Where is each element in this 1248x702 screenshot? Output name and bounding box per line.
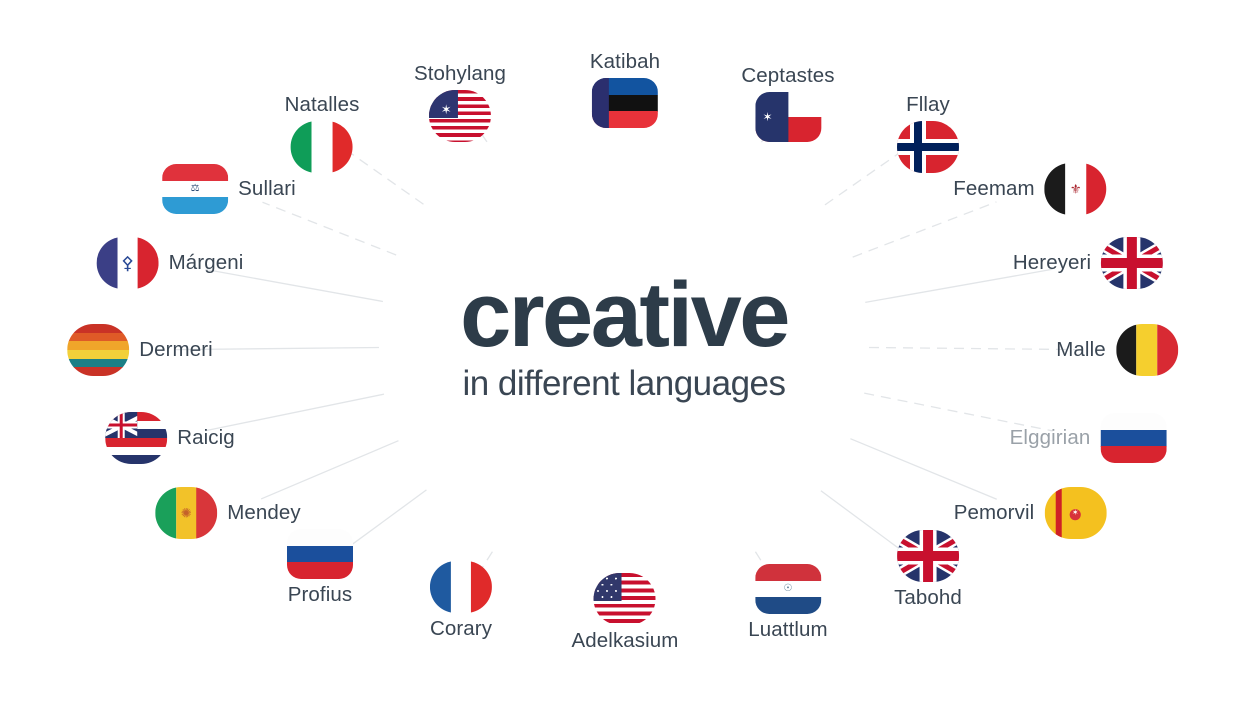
uk-flag <box>897 530 959 582</box>
language-node[interactable]: Adelkasium <box>572 573 679 653</box>
language-node[interactable]: Dermeri <box>67 324 213 376</box>
language-node[interactable]: Raicig <box>105 412 235 464</box>
egypt-flag: ⚜ <box>1045 163 1107 215</box>
language-node[interactable]: ⚖Sullari <box>162 164 296 214</box>
language-node-label: Luattlum <box>748 618 827 642</box>
language-node-label: Raicig <box>177 426 235 450</box>
language-node-label: Natalles <box>285 93 360 117</box>
language-node-label: Malle <box>1056 338 1106 362</box>
usa-flag <box>594 573 656 625</box>
language-node-label: Hereyeri <box>1013 251 1091 275</box>
language-node-label: Ceptastes <box>741 64 834 88</box>
russia-flag <box>1100 413 1166 463</box>
mindmap-canvas: creative in different languages Natalles… <box>0 0 1248 702</box>
language-node[interactable]: Tabohd <box>894 530 962 610</box>
uk-flag <box>1101 237 1163 289</box>
language-node[interactable]: Hereyeri <box>1013 237 1163 289</box>
language-node[interactable]: ☉Luattlum <box>748 564 827 642</box>
language-node[interactable]: Natalles <box>285 93 360 173</box>
language-node-label: Pemorvil <box>954 501 1035 525</box>
language-node[interactable]: ✶Ceptastes <box>741 64 834 142</box>
language-node-label: Tabohd <box>894 586 962 610</box>
language-node[interactable]: ⚴Márgeni <box>97 237 244 289</box>
italy-flag <box>291 121 353 173</box>
paraguay-alt-flag: ⚖ <box>162 164 228 214</box>
language-node-label: Elggirian <box>1010 426 1091 450</box>
norway-flag <box>897 121 959 173</box>
language-node-label: Márgeni <box>169 251 244 275</box>
rainbow-flag <box>67 324 129 376</box>
france-flag <box>430 561 492 613</box>
malaysia-flag: ✶ <box>429 90 491 142</box>
language-node-label: Katibah <box>590 50 660 74</box>
donetsk-flag <box>592 78 658 128</box>
hawaii-flag <box>105 412 167 464</box>
chile-flag: ✶ <box>755 92 821 142</box>
language-node-label: Sullari <box>238 177 296 201</box>
language-node[interactable]: ✺Mendey <box>155 487 301 539</box>
mali-flag: ✺ <box>155 487 217 539</box>
language-node[interactable]: ✶Stohylang <box>414 62 506 142</box>
language-node-label: Mendey <box>227 501 301 525</box>
language-node[interactable]: Elggirian <box>1010 413 1167 463</box>
language-node[interactable]: ⚜Feemam <box>953 163 1106 215</box>
language-node-label: Corary <box>430 617 492 641</box>
language-node[interactable]: Malle <box>1056 324 1178 376</box>
language-node-label: Stohylang <box>414 62 506 86</box>
language-node-label: Profius <box>288 583 353 607</box>
language-node-label: Fllay <box>906 93 950 117</box>
belgium-flag <box>1116 324 1178 376</box>
paraguay-flag: ☉ <box>755 564 821 614</box>
language-node[interactable]: Profius <box>287 529 353 607</box>
language-node[interactable]: Fllay <box>897 93 959 173</box>
language-node[interactable]: Corary <box>430 561 492 641</box>
language-node[interactable]: ●✶Pemorvil <box>954 487 1107 539</box>
language-node-label: Dermeri <box>139 338 213 362</box>
language-node-label: Feemam <box>953 177 1034 201</box>
martinique-flag: ⚴ <box>97 237 159 289</box>
tunisia-flag: ●✶ <box>1044 487 1106 539</box>
language-node[interactable]: Katibah <box>590 50 660 128</box>
language-node-label: Adelkasium <box>572 629 679 653</box>
